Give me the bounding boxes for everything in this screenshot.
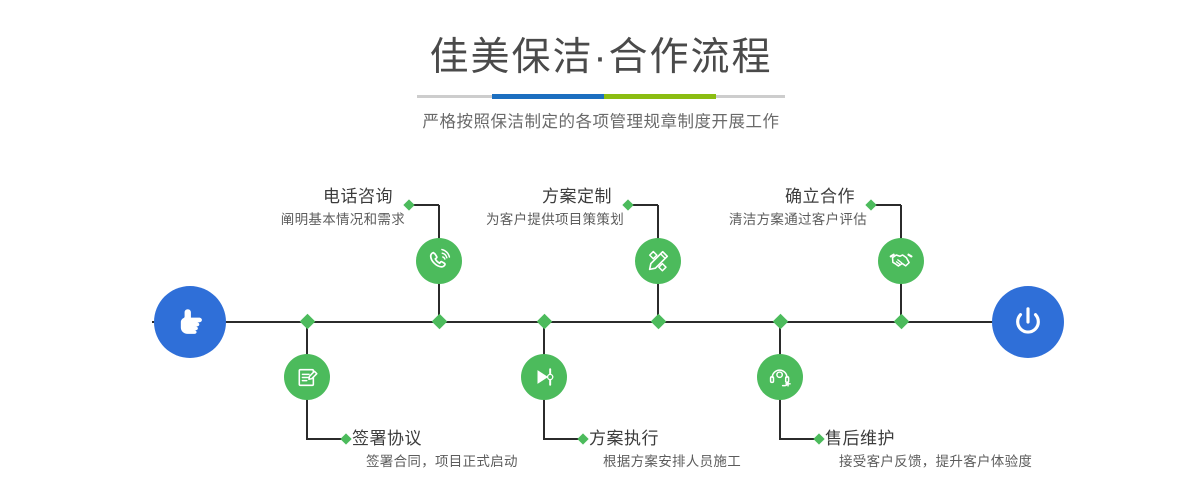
- step-title-2: 签署协议: [352, 428, 582, 449]
- step-desc-3: 为客户提供项目策策划: [404, 207, 624, 230]
- pencil-ruler-icon: [645, 248, 671, 274]
- customer-service-icon: [767, 364, 793, 390]
- step-icon-4[interactable]: [521, 354, 567, 400]
- step-desc-1: 阐明基本情况和需求: [185, 207, 405, 230]
- connector-horizontal-step-2: [306, 438, 344, 440]
- process-flow: 电话咨询 阐明基本情况和需求 签署协议 签署合同，项目正式启动: [0, 0, 1202, 502]
- step-title-1: 电话咨询: [185, 186, 405, 207]
- play-execute-icon: [531, 364, 557, 390]
- axis-marker-step-6: [773, 314, 789, 330]
- step-label-4: 方案执行 根据方案安排人员施工: [589, 428, 819, 473]
- step-desc-5: 清洁方案通过客户评估: [647, 207, 867, 230]
- label-marker-step-5: [865, 199, 876, 210]
- step-desc-4: 根据方案安排人员施工: [589, 449, 819, 472]
- step-label-5: 确立合作 清洁方案通过客户评估: [647, 186, 867, 231]
- label-marker-step-2: [340, 433, 351, 444]
- step-label-2: 签署协议 签署合同，项目正式启动: [352, 428, 582, 473]
- document-sign-icon: [295, 365, 320, 390]
- step-title-4: 方案执行: [589, 428, 819, 449]
- step-icon-5[interactable]: [878, 238, 924, 284]
- cooperation-process-diagram: 佳美保洁·合作流程 严格按照保洁制定的各项管理规章制度开展工作: [0, 0, 1202, 502]
- axis-marker-step-4: [537, 314, 553, 330]
- step-title-6: 售后维护: [825, 428, 1085, 449]
- step-label-1: 电话咨询 阐明基本情况和需求: [185, 186, 405, 231]
- axis-marker-step-2: [300, 314, 316, 330]
- step-icon-3[interactable]: [635, 238, 681, 284]
- pointing-hand-icon: [170, 302, 210, 342]
- end-endpoint-power[interactable]: [992, 286, 1064, 358]
- axis-marker-step-3: [651, 314, 667, 330]
- step-title-5: 确立合作: [647, 186, 867, 207]
- step-desc-2: 签署合同，项目正式启动: [352, 449, 582, 472]
- power-icon: [1007, 301, 1049, 343]
- step-label-3: 方案定制 为客户提供项目策策划: [404, 186, 624, 231]
- step-desc-6: 接受客户反馈，提升客户体验度: [825, 449, 1085, 472]
- axis-marker-step-5: [894, 314, 910, 330]
- step-icon-1[interactable]: [416, 238, 462, 284]
- phone-call-icon: [426, 248, 452, 274]
- label-marker-step-3: [622, 199, 633, 210]
- timeline-axis: [152, 321, 1050, 323]
- connector-horizontal-step-5: [873, 204, 901, 206]
- start-endpoint-pointing-hand[interactable]: [154, 286, 226, 358]
- axis-marker-step-1: [432, 314, 448, 330]
- step-title-3: 方案定制: [404, 186, 624, 207]
- step-icon-2[interactable]: [284, 354, 330, 400]
- step-label-6: 售后维护 接受客户反馈，提升客户体验度: [825, 428, 1085, 473]
- handshake-icon: [888, 248, 914, 274]
- step-icon-6[interactable]: [757, 354, 803, 400]
